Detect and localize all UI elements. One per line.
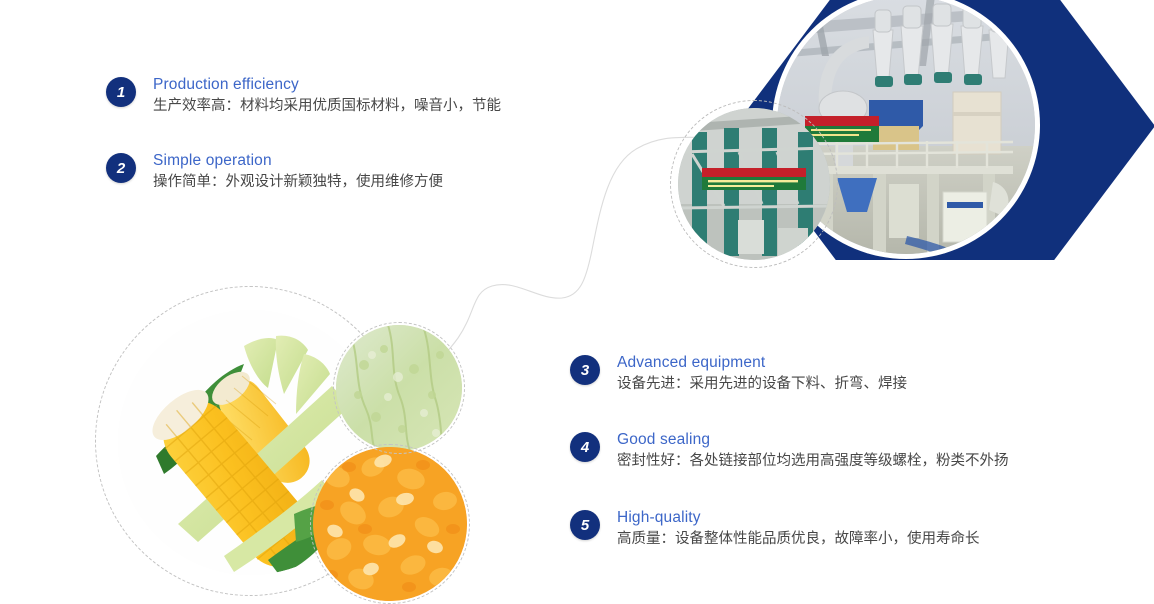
feature-badge-2: 2: [106, 153, 136, 183]
feature-item-5[interactable]: 5 High-quality 高质量：设备整体性能品质优良，故障率小，使用寿命长: [570, 509, 980, 550]
feature-text-4: Good sealing 密封性好：各处链接部位均选用高强度等级螺栓，粉类不外扬: [617, 431, 1009, 472]
feature-desc-1: 生产效率高：材料均采用优质国标材料，噪音小，节能: [153, 96, 501, 117]
feature-title-3: Advanced equipment: [617, 354, 907, 372]
feature-item-4[interactable]: 4 Good sealing 密封性好：各处链接部位均选用高强度等级螺栓，粉类不…: [570, 431, 1009, 472]
feature-item-2[interactable]: 2 Simple operation 操作简单：外观设计新颖独特，使用维修方便: [106, 152, 443, 193]
feature-title-4: Good sealing: [617, 431, 1009, 449]
feature-desc-2: 操作简单：外观设计新颖独特，使用维修方便: [153, 172, 443, 193]
feature-text-3: Advanced equipment 设备先进：采用先进的设备下料、折弯、焊接: [617, 354, 907, 395]
feature-title-2: Simple operation: [153, 152, 443, 170]
feature-title-1: Production efficiency: [153, 76, 501, 94]
corn-paste-dashed-ring: [333, 322, 465, 454]
feature-text-5: High-quality 高质量：设备整体性能品质优良，故障率小，使用寿命长: [617, 509, 980, 550]
feature-desc-4: 密封性好：各处链接部位均选用高强度等级螺栓，粉类不外扬: [617, 451, 1009, 472]
corn-grits-dashed-ring: [310, 444, 470, 604]
feature-badge-5: 5: [570, 510, 600, 540]
feature-badge-4: 4: [570, 432, 600, 462]
feature-text-1: Production efficiency 生产效率高：材料均采用优质国标材料，…: [153, 76, 501, 117]
advantages-infographic: 1 Production efficiency 生产效率高：材料均采用优质国标材…: [0, 0, 1154, 591]
feature-badge-1: 1: [106, 77, 136, 107]
feature-item-1[interactable]: 1 Production efficiency 生产效率高：材料均采用优质国标材…: [106, 76, 501, 117]
feature-text-2: Simple operation 操作简单：外观设计新颖独特，使用维修方便: [153, 152, 443, 193]
feature-item-3[interactable]: 3 Advanced equipment 设备先进：采用先进的设备下料、折弯、焊…: [570, 354, 907, 395]
feature-desc-3: 设备先进：采用先进的设备下料、折弯、焊接: [617, 374, 907, 395]
feature-title-5: High-quality: [617, 509, 980, 527]
green-mill-equipment-photo: [678, 108, 830, 260]
feature-badge-3: 3: [570, 355, 600, 385]
feature-desc-5: 高质量：设备整体性能品质优良，故障率小，使用寿命长: [617, 529, 980, 550]
